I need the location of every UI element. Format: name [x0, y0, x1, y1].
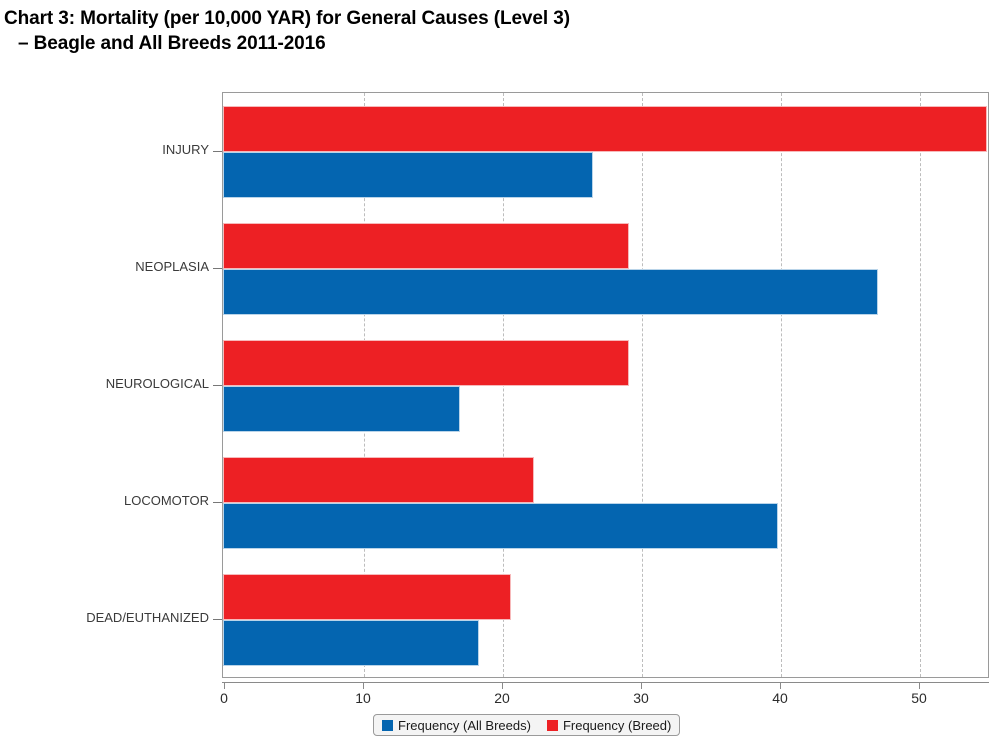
y-axis-label-locomotor: LOCOMOTOR: [124, 493, 209, 508]
legend-label-breed: Frequency (Breed): [563, 718, 671, 733]
gridline-x-40: [781, 93, 782, 677]
bar-breed-locomotor[interactable]: [223, 457, 534, 503]
x-tick-0: [224, 682, 225, 689]
bar-breed-dead-euthanized[interactable]: [223, 574, 511, 620]
bar-all-breeds-locomotor[interactable]: [223, 503, 778, 549]
x-tick-50: [919, 682, 920, 689]
x-axis-line: [222, 682, 989, 683]
plot-area: [222, 92, 989, 678]
chart-title-line-1: Chart 3: Mortality (per 10,000 YAR) for …: [4, 6, 904, 31]
chart-title-line-2: – Beagle and All Breeds 2011-2016: [4, 31, 904, 56]
legend-swatch-all-breeds: [382, 720, 393, 731]
gridline-x-30: [642, 93, 643, 677]
x-axis-tick-label-40: 40: [772, 690, 788, 706]
y-axis-label-injury: INJURY: [162, 142, 209, 157]
y-axis-label-dead-euthanized: DEAD/EUTHANIZED: [86, 610, 209, 625]
plot-inner: [223, 93, 988, 677]
chart-legend[interactable]: Frequency (All Breeds) Frequency (Breed): [373, 714, 680, 736]
y-tick-1: [213, 268, 222, 269]
legend-entry-all-breeds[interactable]: Frequency (All Breeds): [382, 718, 531, 733]
x-axis-tick-label-0: 0: [220, 690, 228, 706]
x-axis-tick-label-10: 10: [355, 690, 371, 706]
legend-label-all-breeds: Frequency (All Breeds): [398, 718, 531, 733]
bar-all-breeds-injury[interactable]: [223, 152, 593, 198]
bar-breed-neurological[interactable]: [223, 340, 629, 386]
bar-all-breeds-neurological[interactable]: [223, 386, 460, 432]
bar-breed-injury[interactable]: [223, 106, 987, 152]
x-tick-40: [780, 682, 781, 689]
x-tick-10: [363, 682, 364, 689]
y-tick-3: [213, 502, 222, 503]
y-tick-0: [213, 151, 222, 152]
y-tick-2: [213, 385, 222, 386]
legend-entry-breed[interactable]: Frequency (Breed): [547, 718, 671, 733]
x-axis-tick-label-30: 30: [633, 690, 649, 706]
chart-container: Chart 3: Mortality (per 10,000 YAR) for …: [0, 0, 1000, 743]
y-axis-label-neurological: NEUROLOGICAL: [106, 376, 209, 391]
y-axis-label-neoplasia: NEOPLASIA: [135, 259, 209, 274]
gridline-x-50: [920, 93, 921, 677]
bar-breed-neoplasia[interactable]: [223, 223, 629, 269]
bar-all-breeds-dead-euthanized[interactable]: [223, 620, 479, 666]
x-tick-20: [502, 682, 503, 689]
legend-swatch-breed: [547, 720, 558, 731]
x-axis-tick-label-50: 50: [911, 690, 927, 706]
x-axis-tick-label-20: 20: [494, 690, 510, 706]
x-tick-30: [641, 682, 642, 689]
bar-all-breeds-neoplasia[interactable]: [223, 269, 878, 315]
chart-title: Chart 3: Mortality (per 10,000 YAR) for …: [4, 6, 904, 56]
y-tick-4: [213, 619, 222, 620]
